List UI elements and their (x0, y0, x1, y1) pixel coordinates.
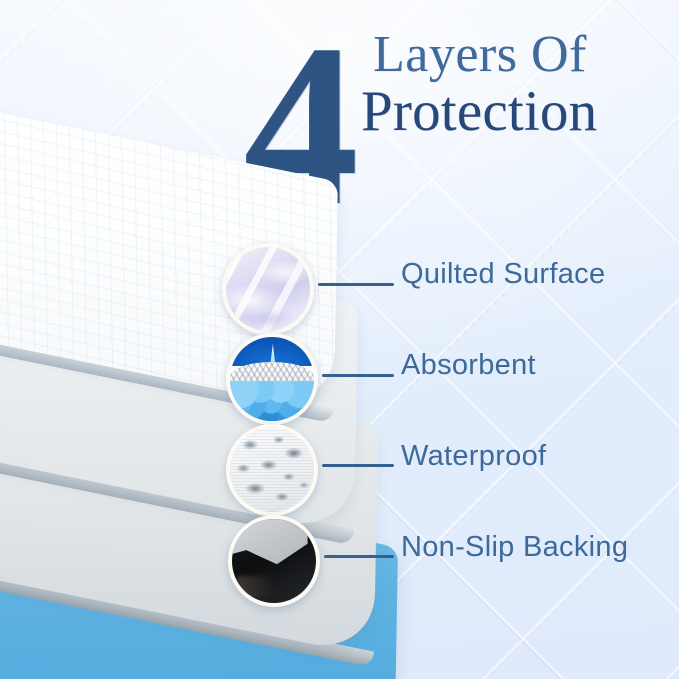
surface-sheen (237, 576, 286, 598)
connector-line-non-slip-backing (324, 555, 394, 558)
callout-icon-non-slip-grip-icon (228, 515, 320, 607)
absorbent-beads (230, 381, 314, 421)
quilted-fabric-icon (226, 247, 310, 331)
title-lines: Layers Of Protection (373, 30, 675, 141)
layer-label-quilted-surface: Quilted Surface (401, 258, 605, 291)
non-slip-grip-icon (232, 519, 316, 603)
layer-label-non-slip-backing: Non-Slip Backing (401, 531, 628, 564)
callout-icon-absorbent-droplet-icon (226, 333, 318, 425)
connector-line-waterproof (322, 464, 394, 467)
callout-icon-water-beading-icon (226, 424, 318, 516)
connector-line-quilted-surface (318, 283, 394, 286)
layer-label-waterproof: Waterproof (401, 440, 546, 473)
layer-label-absorbent: Absorbent (401, 349, 536, 382)
water-beading-icon (230, 428, 314, 512)
page-title: 4 Layers Of Protection (243, 14, 675, 179)
connector-line-absorbent (322, 374, 394, 377)
title-line-1: Layers Of (373, 30, 675, 81)
title-line-2: Protection (361, 83, 675, 141)
absorbent-droplet-icon (230, 337, 314, 421)
peeled-corner (228, 515, 308, 574)
callout-icon-quilted-fabric-icon (222, 243, 314, 335)
infographic-canvas: 4 Layers Of Protection Quilted Surface A… (0, 0, 679, 679)
